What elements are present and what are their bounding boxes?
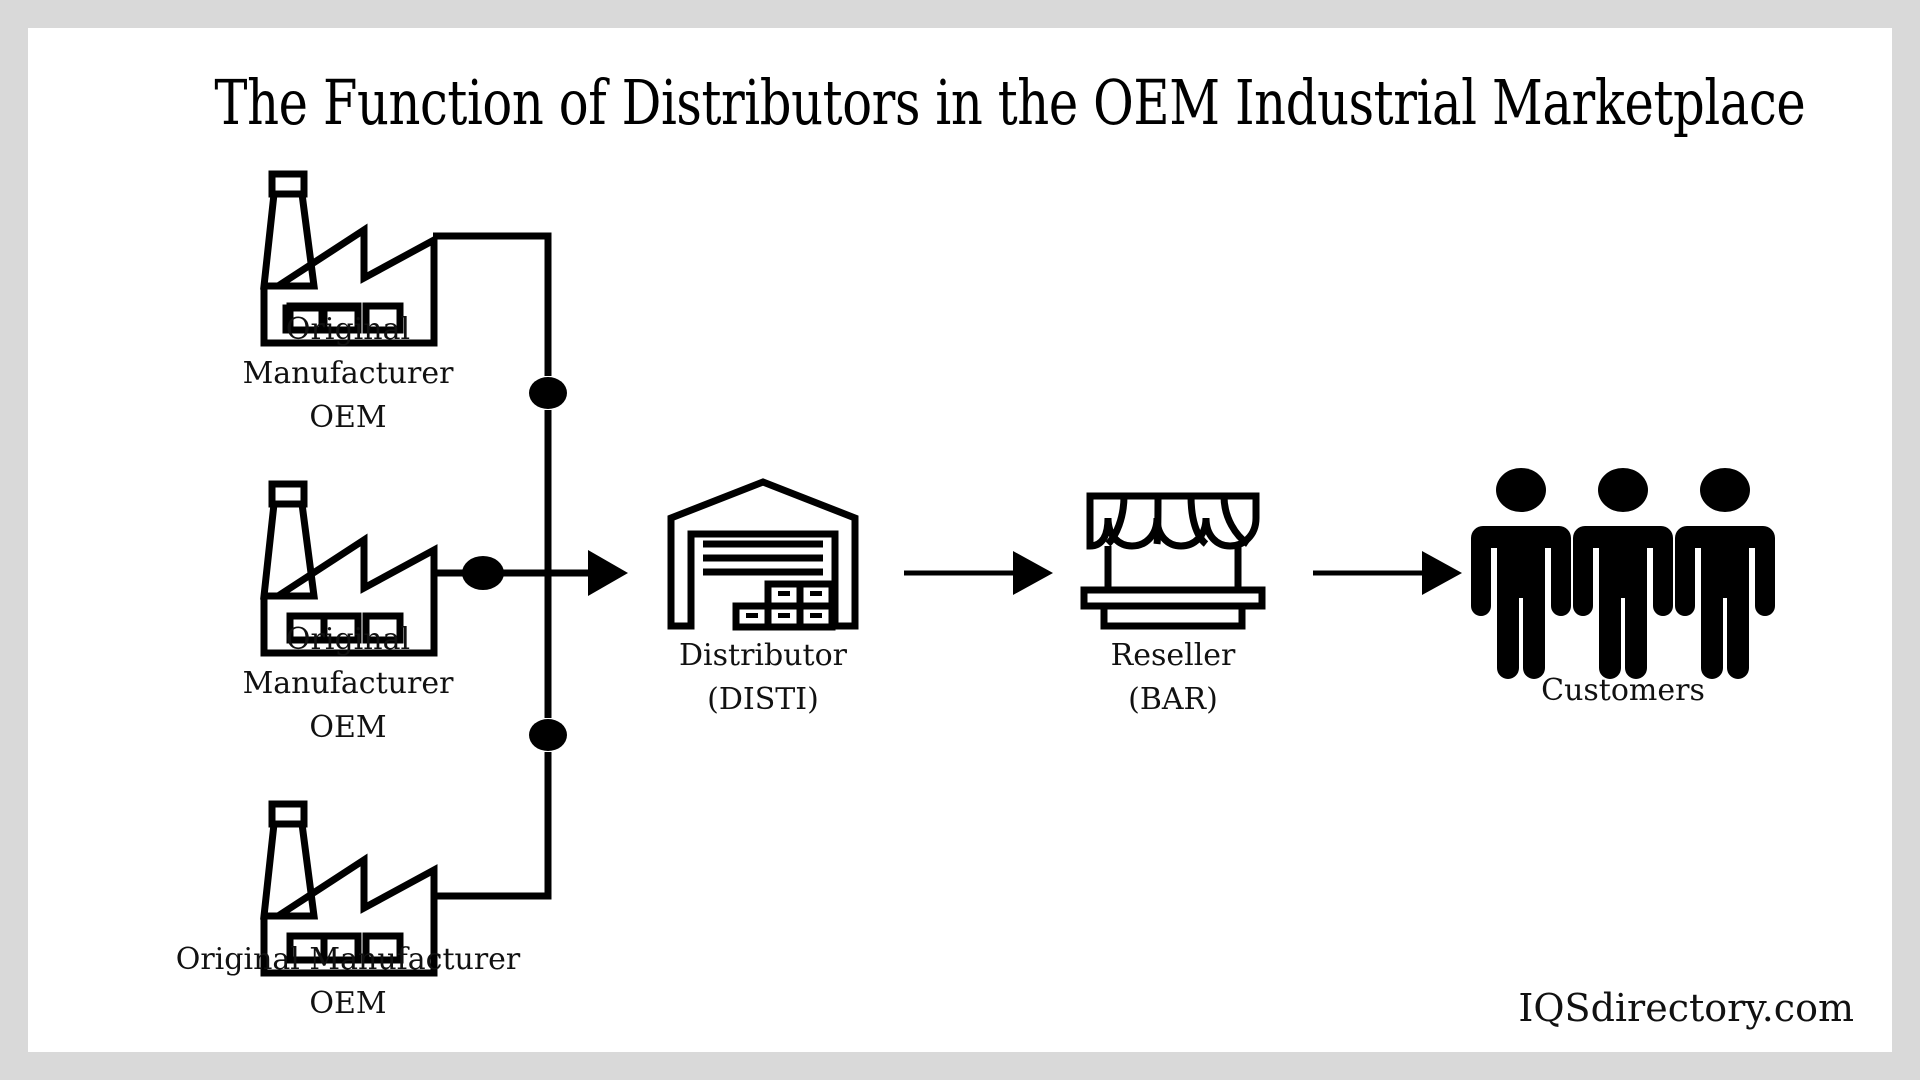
node-label-reseller: Reseller (BAR) <box>1048 634 1298 722</box>
node-reseller[interactable]: Reseller (BAR) <box>1048 478 1298 722</box>
node-label-oem-middle: Original Manufacturer OEM <box>188 618 508 750</box>
factory-icon <box>248 798 448 938</box>
outer-frame: The Function of Distributors in the OEM … <box>0 0 1920 1080</box>
junction-dot-bottom <box>529 719 567 751</box>
node-label-oem-top: Original Manufacturer OEM <box>188 308 508 440</box>
node-customers[interactable]: Customers <box>1458 468 1788 713</box>
watermark-text: IQSdirectory.com <box>1518 986 1854 1030</box>
junction-dot-top <box>529 377 567 409</box>
node-label-oem-bottom: Original Manufacturer OEM <box>98 938 598 1026</box>
node-oem-middle[interactable]: Original Manufacturer OEM <box>188 478 508 750</box>
warehouse-icon <box>663 478 863 628</box>
factory-icon <box>248 168 448 308</box>
diagram-canvas: The Function of Distributors in the OEM … <box>28 28 1892 1052</box>
factory-icon <box>248 478 448 618</box>
people-group-icon <box>1473 468 1773 663</box>
arrowhead-to-customers <box>1422 551 1462 595</box>
market-stall-icon <box>1078 478 1268 628</box>
node-label-distributor: Distributor (DISTI) <box>618 634 908 722</box>
node-oem-bottom[interactable]: Original Manufacturer OEM <box>98 798 598 1026</box>
node-distributor[interactable]: Distributor (DISTI) <box>618 478 908 722</box>
node-oem-top[interactable]: Original Manufacturer OEM <box>188 168 508 440</box>
arrowhead-to-reseller <box>1013 551 1053 595</box>
